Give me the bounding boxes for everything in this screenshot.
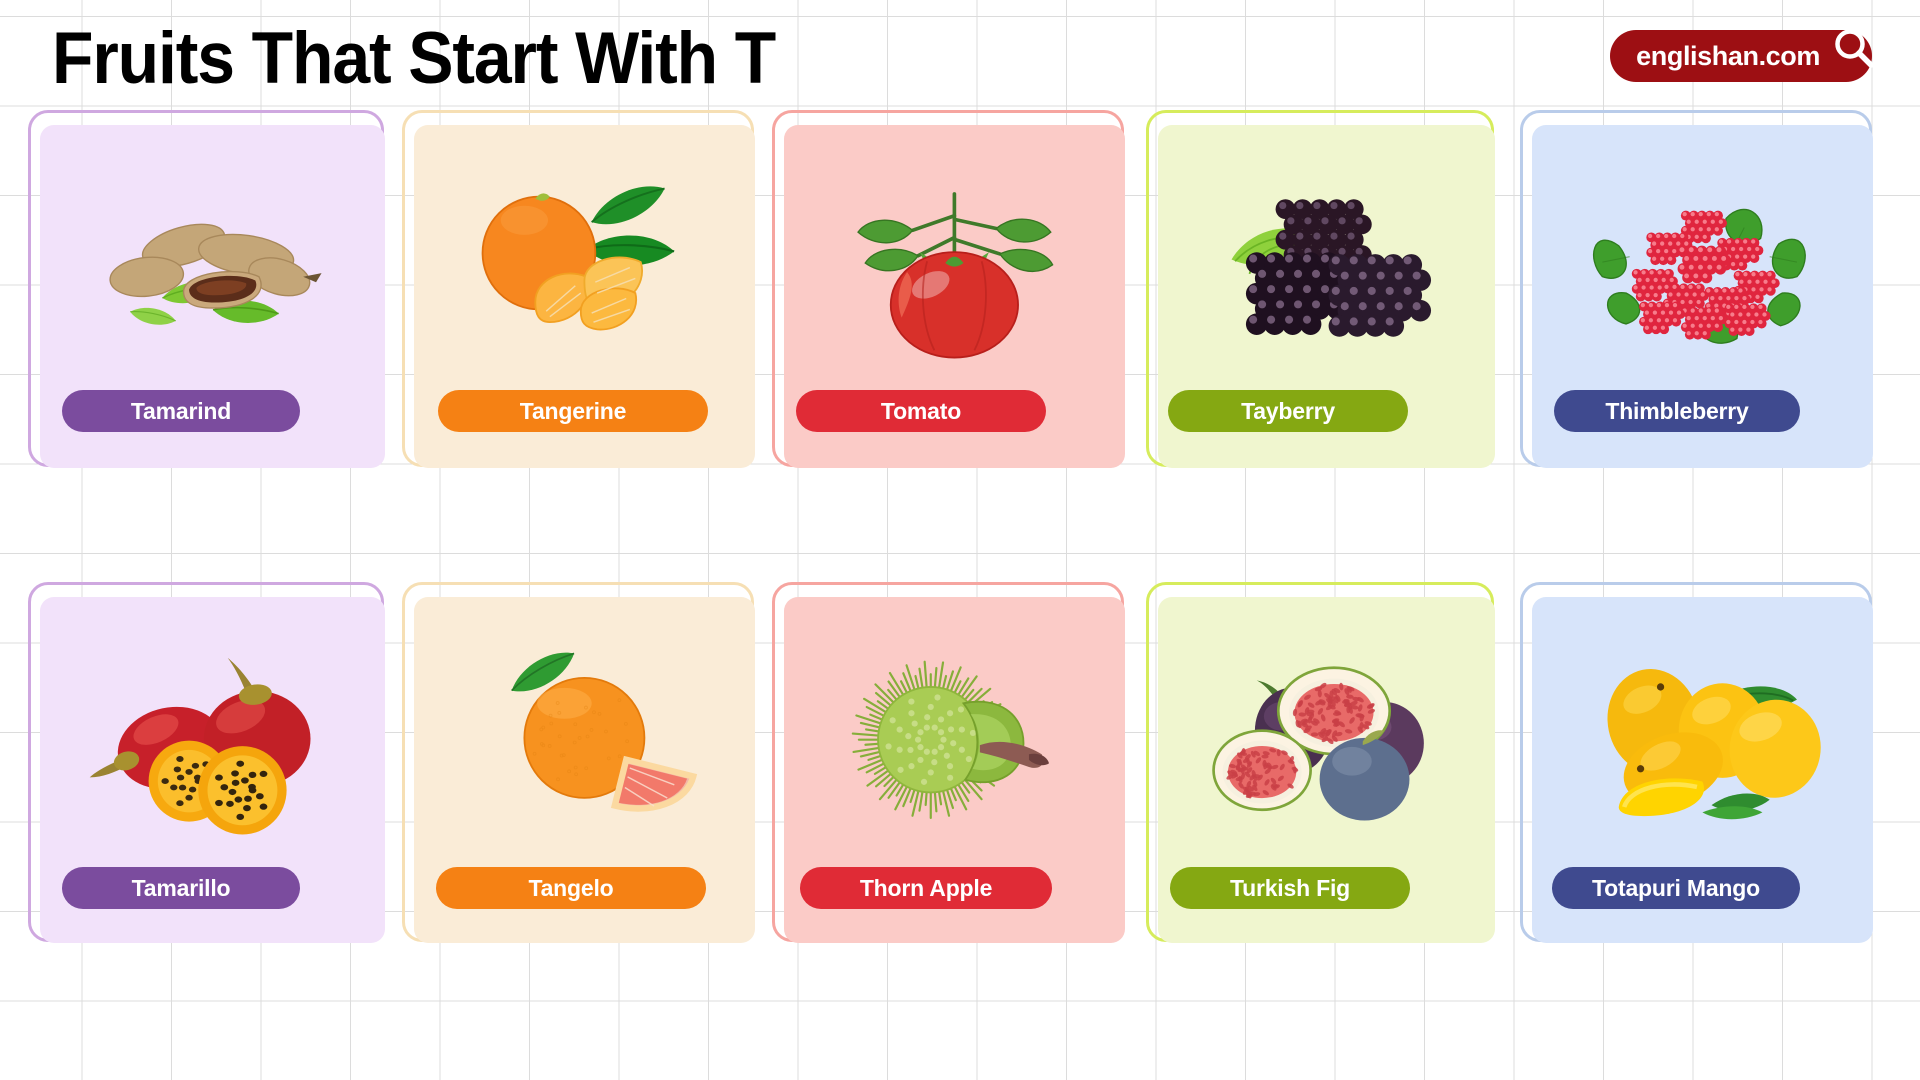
fruit-card-panel: Thimbleberry [1532,125,1873,468]
fruit-label-text: Tamarind [131,398,231,425]
fruit-card-tamarillo[interactable]: Tamarillo [28,582,384,942]
tomato-on-vine-illustration [784,139,1125,393]
page-title: Fruits That Start With T [52,17,775,100]
fruit-label-text: Tayberry [1241,398,1335,425]
header: Fruits That Start With T englishan.com [0,0,1920,115]
fruit-label-pill[interactable]: Tamarind [62,390,300,432]
fruit-card-panel: Turkish Fig [1158,597,1495,943]
brand-badge[interactable]: englishan.com [1610,30,1872,82]
fruit-card-panel: Tangerine [414,125,755,468]
fruit-card-turkish-fig[interactable]: Turkish Fig [1146,582,1494,942]
fruit-label-text: Totapuri Mango [1592,875,1760,902]
fruit-card-thimbleberry[interactable]: Thimbleberry [1520,110,1872,467]
fruit-label-pill[interactable]: Tangerine [438,390,708,432]
fruit-label-pill[interactable]: Tamarillo [62,867,300,909]
totapuri-mango-cluster-illustration [1532,611,1873,867]
fruit-label-text: Thorn Apple [860,875,992,902]
fruit-card-panel: Tamarillo [40,597,385,943]
fruit-card-panel: Totapuri Mango [1532,597,1873,943]
fruit-label-pill[interactable]: Thorn Apple [800,867,1052,909]
tamarillo-halved-illustration [40,611,385,867]
brand-name-label: englishan.com [1636,41,1820,72]
fruit-card-tayberry[interactable]: Tayberry [1146,110,1494,467]
tayberry-cluster-illustration [1158,139,1495,393]
fruit-card-panel: Tangelo [414,597,755,943]
tangerine-with-segments-illustration [414,139,755,393]
fruit-card-panel: Tomato [784,125,1125,468]
fruit-card-panel: Tamarind [40,125,385,468]
fruit-label-pill[interactable]: Totapuri Mango [1552,867,1800,909]
thorn-apple-spiky-pod-illustration [784,611,1125,867]
search-icon [1830,24,1878,72]
fruit-label-pill[interactable]: Tangelo [436,867,706,909]
fruit-label-text: Tangelo [528,875,613,902]
fruit-label-text: Tangerine [520,398,626,425]
fruit-card-tomato[interactable]: Tomato [772,110,1124,467]
fruit-card-tangerine[interactable]: Tangerine [402,110,754,467]
fruit-label-text: Tamarillo [132,875,231,902]
tamarind-pods-illustration [40,139,385,393]
fruit-label-pill[interactable]: Tomato [796,390,1046,432]
fruit-label-text: Tomato [881,398,961,425]
fruit-card-grid: Tamarind Tangerine [0,100,1920,1055]
fruit-label-text: Thimbleberry [1605,398,1748,425]
fruit-card-tamarind[interactable]: Tamarind [28,110,384,467]
turkish-fig-halved-illustration [1158,611,1495,867]
tangelo-with-wedge-illustration [414,611,755,867]
fruit-card-tangelo[interactable]: Tangelo [402,582,754,942]
fruit-label-text: Turkish Fig [1230,875,1350,902]
fruit-card-panel: Thorn Apple [784,597,1125,943]
fruit-label-pill[interactable]: Thimbleberry [1554,390,1800,432]
fruit-label-pill[interactable]: Tayberry [1168,390,1408,432]
fruit-card-totapuri-mango[interactable]: Totapuri Mango [1520,582,1872,942]
thimbleberry-cluster-illustration [1532,139,1873,393]
fruit-label-pill[interactable]: Turkish Fig [1170,867,1410,909]
fruit-card-panel: Tayberry [1158,125,1495,468]
infographic-page: Fruits That Start With T englishan.com [0,0,1920,1080]
fruit-card-thorn-apple[interactable]: Thorn Apple [772,582,1124,942]
